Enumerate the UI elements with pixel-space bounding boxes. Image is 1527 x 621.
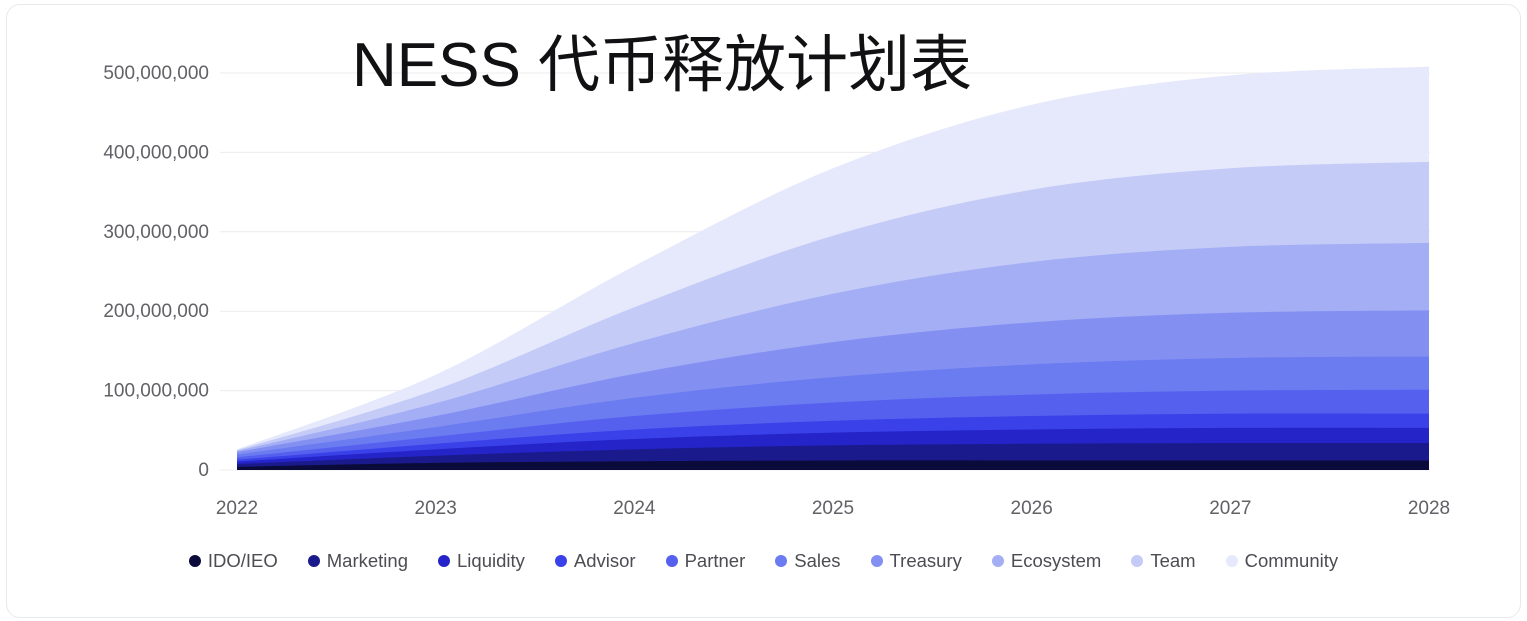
x-axis-tick-labels: 2022202320242025202620272028 (216, 498, 1450, 519)
legend-item-label: Treasury (890, 552, 962, 571)
legend-item-community[interactable]: Community (1226, 552, 1339, 571)
legend-item-label: Community (1245, 552, 1339, 571)
chart-title: NESS 代币释放计划表 (352, 31, 972, 100)
legend-item-label: Partner (685, 552, 746, 571)
legend-swatch-icon (871, 555, 883, 567)
y-axis-tick-label: 300,000,000 (103, 222, 209, 243)
x-axis-tick-label: 2024 (613, 498, 656, 519)
y-axis-tick-labels: 0100,000,000200,000,000300,000,000400,00… (103, 63, 209, 481)
legend-item-partner[interactable]: Partner (666, 552, 746, 571)
legend-item-marketing[interactable]: Marketing (308, 552, 408, 571)
legend-swatch-icon (992, 555, 1004, 567)
legend-item-label: Liquidity (457, 552, 525, 571)
area-series-group (237, 67, 1429, 470)
legend-swatch-icon (189, 555, 201, 567)
legend-item-ecosystem[interactable]: Ecosystem (992, 552, 1101, 571)
legend-swatch-icon (438, 555, 450, 567)
legend-item-label: Marketing (327, 552, 408, 571)
legend-item-treasury[interactable]: Treasury (871, 552, 962, 571)
stacked-area-chart: 0100,000,000200,000,000300,000,000400,00… (0, 0, 1527, 621)
legend-item-sales[interactable]: Sales (775, 552, 840, 571)
legend-swatch-icon (308, 555, 320, 567)
x-axis-tick-label: 2026 (1011, 498, 1053, 519)
legend-swatch-icon (1131, 555, 1143, 567)
legend-item-label: Advisor (574, 552, 636, 571)
y-axis-tick-label: 100,000,000 (103, 381, 209, 402)
x-axis-tick-label: 2028 (1408, 498, 1450, 519)
x-axis-tick-label: 2025 (812, 498, 854, 519)
y-axis-tick-label: 500,000,000 (103, 63, 209, 84)
legend-item-label: Ecosystem (1011, 552, 1101, 571)
legend-item-advisor[interactable]: Advisor (555, 552, 636, 571)
x-axis-tick-label: 2023 (415, 498, 457, 519)
legend-swatch-icon (555, 555, 567, 567)
y-axis-tick-label: 200,000,000 (103, 301, 209, 322)
legend-swatch-icon (1226, 555, 1238, 567)
legend-item-liquidity[interactable]: Liquidity (438, 552, 525, 571)
chart-canvas: 0100,000,000200,000,000300,000,000400,00… (0, 0, 1527, 621)
x-axis-tick-label: 2027 (1209, 498, 1251, 519)
x-axis-tick-label: 2022 (216, 498, 258, 519)
y-axis-tick-label: 400,000,000 (103, 142, 209, 163)
legend-item-label: Sales (794, 552, 840, 571)
legend-swatch-icon (666, 555, 678, 567)
legend-item-ido-ieo[interactable]: IDO/IEO (189, 552, 278, 571)
legend-item-label: Team (1150, 552, 1195, 571)
chart-legend: IDO/IEOMarketingLiquidityAdvisorPartnerS… (0, 545, 1527, 577)
page-root: 0100,000,000200,000,000300,000,000400,00… (0, 0, 1527, 621)
legend-swatch-icon (775, 555, 787, 567)
y-axis-tick-label: 0 (198, 460, 209, 481)
legend-item-team[interactable]: Team (1131, 552, 1195, 571)
legend-item-label: IDO/IEO (208, 552, 278, 571)
